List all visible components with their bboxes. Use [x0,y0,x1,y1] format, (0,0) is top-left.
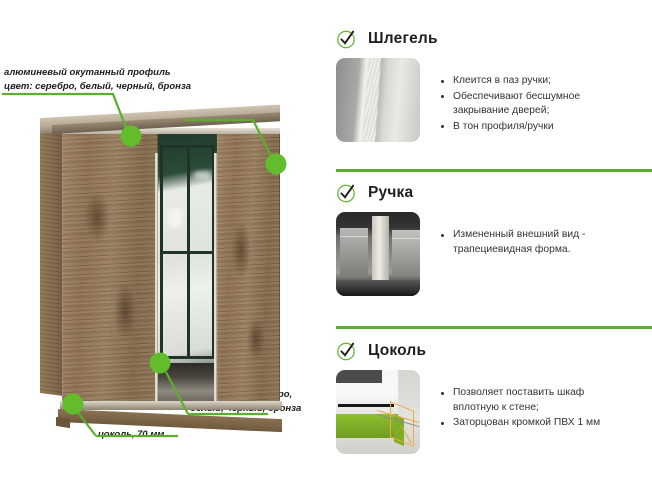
section-tsokol-title: Цоколь [368,342,426,360]
leader-profile [2,94,128,133]
bullet-item: В тон профиля/ручки [440,120,580,135]
section-shlegel: Шлегель Клеится в паз ручки; Обеспечиваю… [336,28,652,142]
check-circle-icon [336,182,357,203]
callout-dots [63,126,287,415]
features-panel: Шлегель Клеится в паз ручки; Обеспечиваю… [336,0,652,500]
section-divider-2 [336,326,652,329]
section-ruchka: Ручка Измененный внешний вид - трапециев… [336,182,652,296]
check-circle-icon [336,340,357,361]
leader-plinth [76,410,178,436]
section-tsokol: Цоколь Позволяет поставить шкаф вплотную… [336,340,652,454]
dot-plinth [63,394,84,415]
section-ruchka-bullets: Измененный внешний вид - трапециевидная … [440,212,585,258]
section-shlegel-header: Шлегель [336,28,652,49]
section-tsokol-bullets: Позволяет поставить шкаф вплотную к стен… [440,370,600,432]
bullet-item: Клеится в паз ручки; [440,74,580,89]
dot-shlegel [266,154,287,175]
bullet-item: Позволяет поставить шкаф вплотную к стен… [440,386,600,415]
section-shlegel-thumbnail [336,58,420,142]
wardrobe-diagram: алюминевый окутанный профиль цвет: сереб… [0,0,330,500]
dot-profile [121,126,142,147]
bullet-item: Измененный внешний вид - трапециевидная … [440,228,585,257]
leader-handles [166,372,268,414]
dot-handles [150,353,171,374]
callout-leader-lines [0,0,330,500]
section-divider-1 [336,169,652,172]
section-tsokol-header: Цоколь [336,340,652,361]
section-ruchka-title: Ручка [368,184,413,202]
section-shlegel-title: Шлегель [368,30,438,48]
section-tsokol-thumbnail [336,370,420,454]
section-ruchka-header: Ручка [336,182,652,203]
bullet-item: Заторцован кромкой ПВХ 1 мм [440,416,600,431]
bullet-item: Обеспечивают бесшумное закрывание дверей… [440,90,580,119]
leader-shlegel [185,120,272,158]
section-ruchka-thumbnail [336,212,420,296]
section-shlegel-bullets: Клеится в паз ручки; Обеспечивают бесшум… [440,58,580,135]
check-circle-icon [336,28,357,49]
infographic-page: алюминевый окутанный профиль цвет: сереб… [0,0,652,500]
